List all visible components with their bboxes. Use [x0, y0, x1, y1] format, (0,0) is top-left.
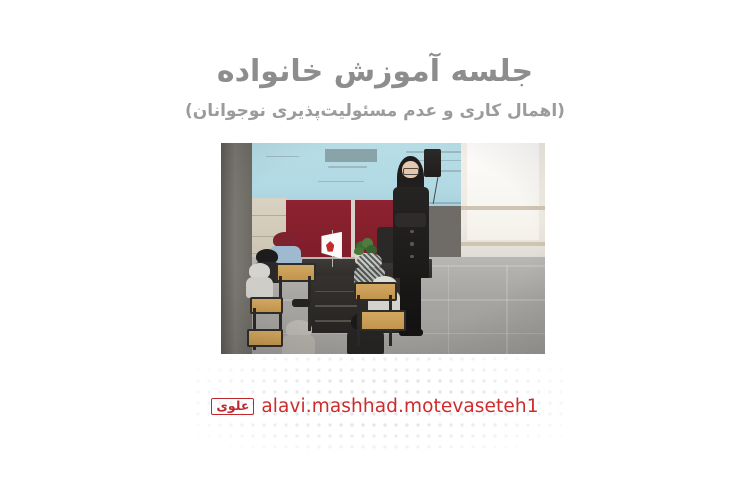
window-glow [467, 143, 538, 240]
classroom-photo [221, 143, 545, 354]
corridor-shelf [461, 242, 545, 246]
whiteboard-writing [266, 156, 298, 157]
floor-tile-line [506, 265, 508, 354]
floor-tile-line [448, 265, 450, 354]
student-sneaker [292, 299, 309, 307]
desk-drawer-line [315, 291, 357, 293]
corridor-shelf [461, 206, 545, 210]
coat-button [410, 255, 414, 258]
page-subtitle: (اهمال کاری و عدم مسئولیت‌پذیری نوجوانان… [0, 101, 750, 122]
desk-leg [357, 295, 360, 346]
photo-scene [221, 143, 545, 354]
teacher-glasses [403, 168, 419, 175]
student-body [282, 335, 315, 354]
whiteboard-header-box [325, 149, 377, 162]
student-desk [247, 329, 283, 348]
room-pillar [221, 143, 252, 354]
student-body [246, 277, 273, 298]
wall-speaker [424, 149, 442, 176]
poster-canvas: جلسه آموزش خانواده (اهمال کاری و عدم مسئ… [0, 0, 750, 480]
coat-button [410, 242, 414, 245]
cabinet-shelf-line [252, 215, 288, 217]
student-desk [360, 310, 406, 331]
coat-button [410, 230, 414, 233]
alavi-brand-badge: علوی [211, 398, 254, 415]
instagram-handle: alavi.mashhad.motevaseteh1 [261, 396, 538, 417]
desk-drawer-line [315, 305, 357, 307]
account-handle-row: علوی alavi.mashhad.motevaseteh1 [0, 396, 750, 417]
student [249, 263, 270, 297]
whiteboard-writing [328, 166, 367, 167]
student-body [347, 329, 384, 354]
page-title: جلسه آموزش خانواده [0, 54, 750, 90]
teacher-folded-arms [395, 213, 426, 228]
